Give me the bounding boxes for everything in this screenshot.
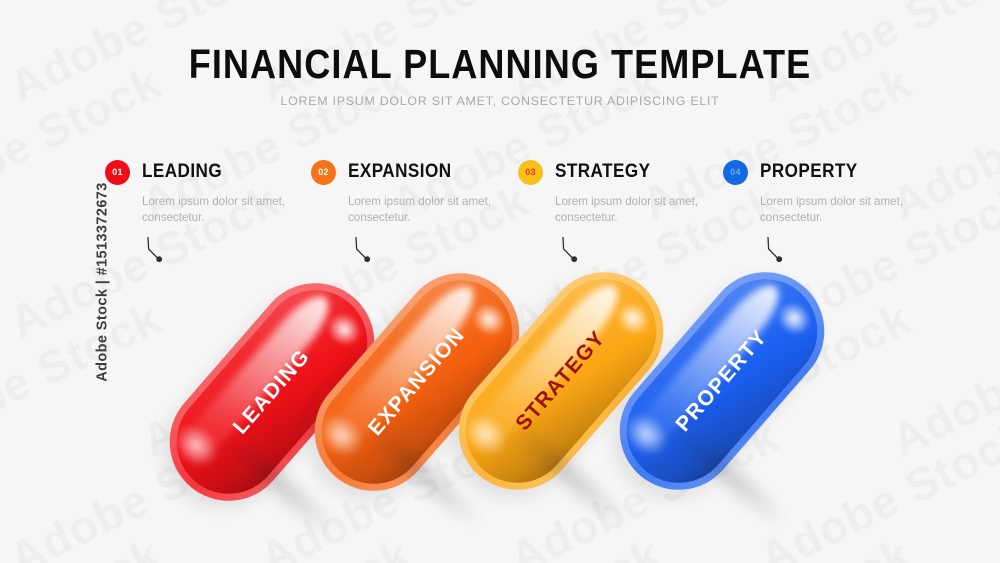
connector-line [356, 237, 366, 258]
step-03[interactable]: 03STRATEGYLorem ipsum dolor sit amet, co… [518, 158, 728, 226]
step-description: Lorem ipsum dolor sit amet, consectetur. [555, 194, 715, 226]
infographic-canvas: Adobe StockAdobe StockAdobe StockAdobe S… [0, 0, 1000, 563]
step-number-badge[interactable]: 04 [723, 160, 748, 185]
step-01[interactable]: 01LEADINGLorem ipsum dolor sit amet, con… [105, 158, 315, 226]
connector-line [563, 237, 573, 258]
connector-end-dot [776, 256, 782, 262]
step-connector-02 [354, 236, 380, 266]
step-title: EXPANSION [348, 161, 452, 183]
step-description: Lorem ipsum dolor sit amet, consectetur. [142, 194, 302, 226]
step-description: Lorem ipsum dolor sit amet, consectetur. [348, 194, 508, 226]
connector-end-dot [364, 256, 370, 262]
header: FINANCIAL PLANNING TEMPLATE LOREM IPSUM … [0, 42, 1000, 108]
step-04[interactable]: 04PROPERTYLorem ipsum dolor sit amet, co… [723, 158, 933, 226]
step-header: 01LEADING [105, 158, 315, 186]
connector-line [148, 237, 158, 258]
connector-end-dot [571, 256, 577, 262]
step-header: 04PROPERTY [723, 158, 933, 186]
step-title: PROPERTY [760, 161, 858, 183]
connector-end-dot [156, 256, 162, 262]
step-header: 02EXPANSION [311, 158, 521, 186]
step-number-badge[interactable]: 02 [311, 160, 336, 185]
step-connector-03 [561, 236, 587, 266]
step-number-badge[interactable]: 03 [518, 160, 543, 185]
step-title: STRATEGY [555, 161, 650, 183]
step-header: 03STRATEGY [518, 158, 728, 186]
step-connector-01 [146, 236, 172, 266]
step-description: Lorem ipsum dolor sit amet, consectetur. [760, 194, 920, 226]
step-connector-04 [766, 236, 792, 266]
step-number-badge[interactable]: 01 [105, 160, 130, 185]
page-subtitle: LOREM IPSUM DOLOR SIT AMET, CONSECTETUR … [0, 94, 1000, 108]
step-02[interactable]: 02EXPANSIONLorem ipsum dolor sit amet, c… [311, 158, 521, 226]
connector-line [768, 237, 778, 258]
adobe-stock-credit: Adobe Stock | #1513372673 [95, 182, 111, 381]
step-title: LEADING [142, 161, 222, 183]
step-legend: 01LEADINGLorem ipsum dolor sit amet, con… [0, 158, 1000, 238]
page-title: FINANCIAL PLANNING TEMPLATE [60, 42, 940, 86]
